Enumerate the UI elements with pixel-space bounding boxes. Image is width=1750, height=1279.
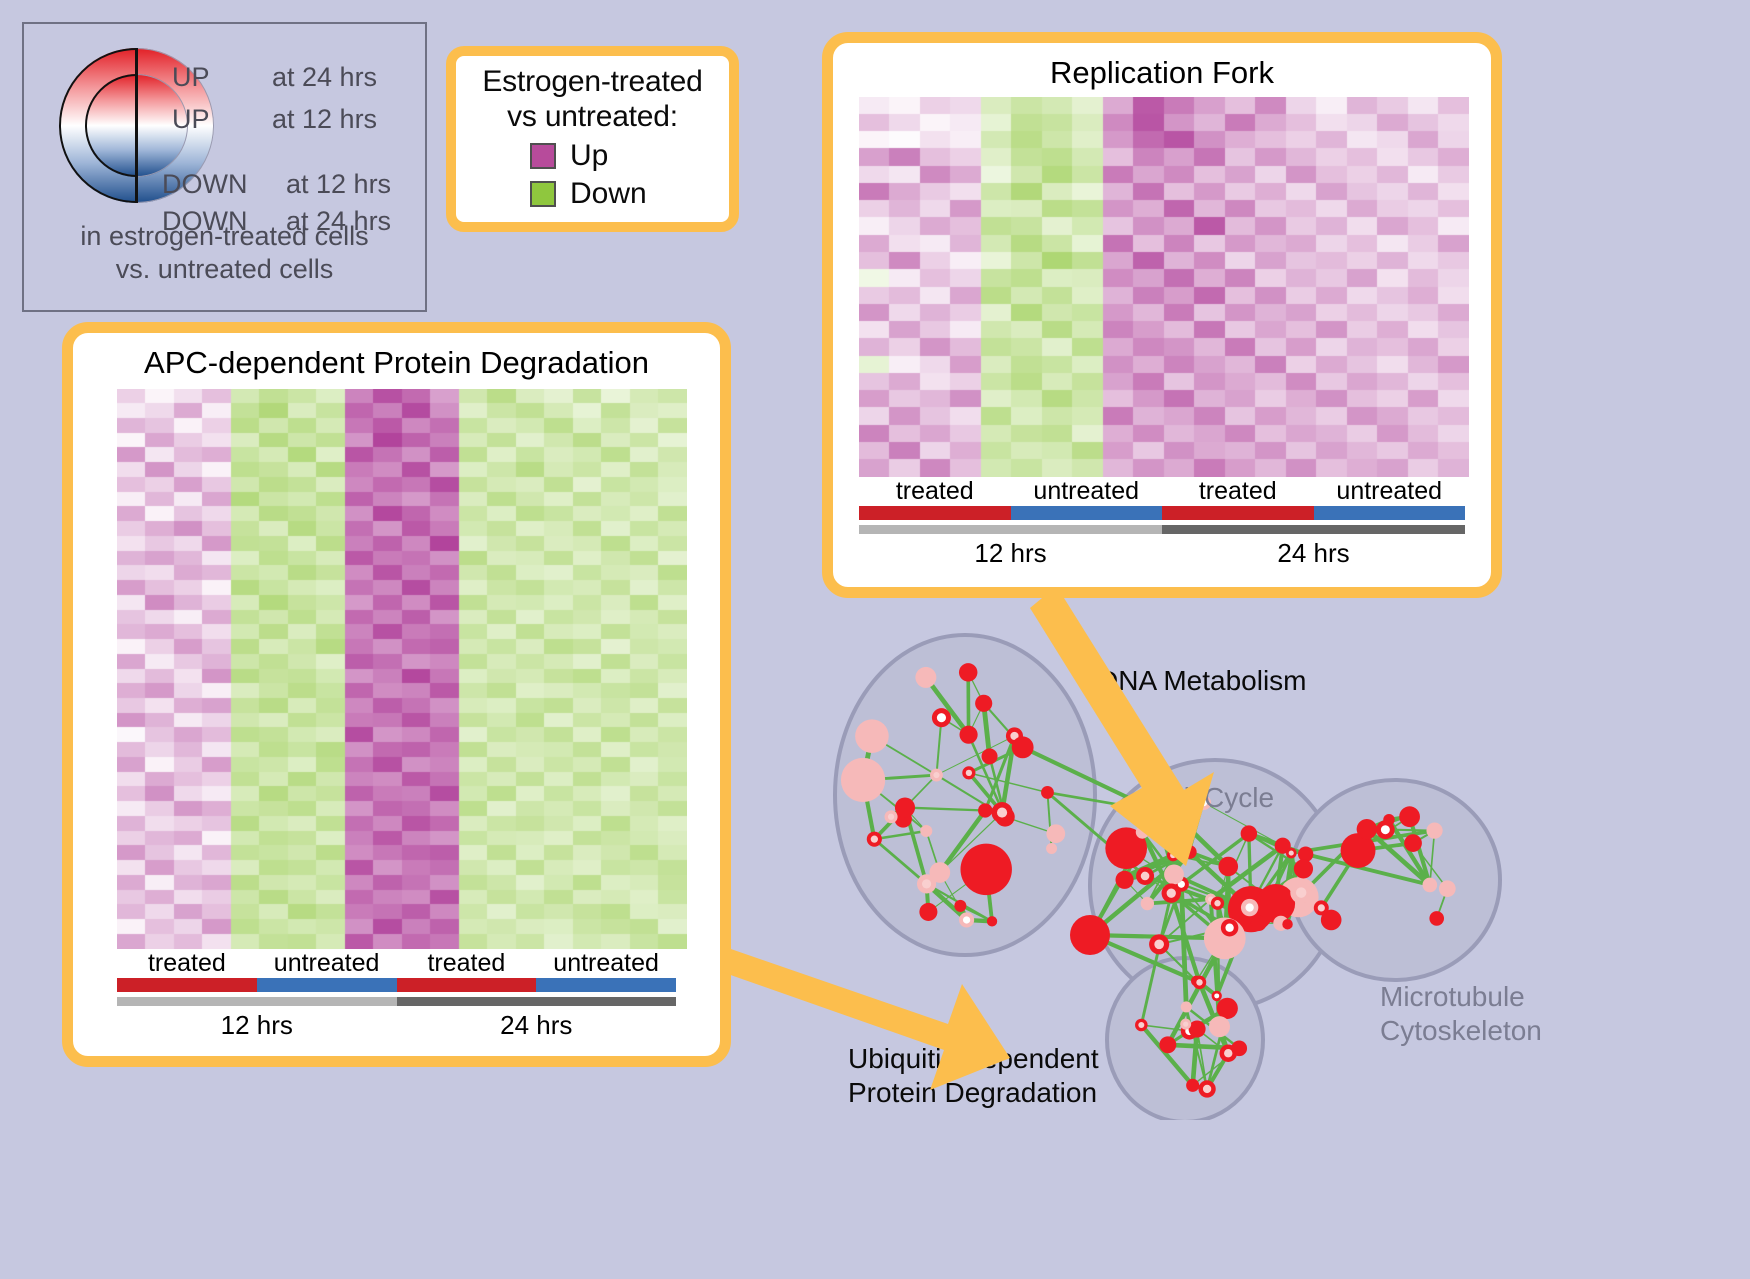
network-node-core [933,772,939,778]
time-label: 12 hrs [117,1010,397,1041]
group-colour-segment [397,978,537,992]
network-node [895,798,915,818]
wheel-when-up-12: at 12 hrs [272,104,377,135]
network-node [841,758,885,802]
time-colour-bar-replication-fork [859,525,1465,534]
network-node [987,916,997,926]
network-node [1241,825,1257,841]
cluster-label-dna-metabolism: DNA Metabolism [1098,665,1307,697]
group-colour-segment [1162,506,1314,520]
panel-apc-degradation: APC-dependent Protein Degradation treate… [62,322,731,1067]
wheel-when-down-12: at 12 hrs [286,169,391,200]
legend-label-up: Up [570,139,608,173]
network-node [1439,880,1456,897]
network-node-core [1225,924,1233,932]
group-colour-segment [859,506,1011,520]
legend-item-up: Up [456,139,729,173]
down-swatch-icon [530,181,556,207]
network-node [1251,915,1267,931]
group-colour-bar-replication-fork [859,506,1465,520]
wheel-divider [135,48,138,203]
network-node [1422,878,1437,893]
group-colour-bar-apc [117,978,676,992]
network-node [1046,843,1057,854]
network-node [915,667,936,688]
cluster-label-ubiquitin-degradation: Ubiquitin-dependent Protein Degradation [848,1042,1099,1109]
time-colour-segment [859,525,1162,534]
network-node [1217,998,1238,1019]
time-colour-segment [117,997,397,1006]
network-node [982,748,998,764]
network-node [1383,814,1394,825]
network-node [959,663,977,681]
wheel-caption: in estrogen-treated cells vs. untreated … [24,220,425,286]
heatmap-apc [117,389,687,949]
network-node [1164,865,1184,885]
group-label: treated [397,949,537,978]
network-node [975,695,992,712]
panel-title-replication-fork: Replication Fork [833,55,1491,91]
network-node [1209,1016,1230,1037]
wheel-key-up-24: UP [172,62,210,93]
group-label: untreated [1011,477,1163,506]
group-colour-segment [257,978,397,992]
time-colour-segment [397,997,677,1006]
network-node [960,726,978,744]
network-node [1070,915,1110,955]
legend-title-line2: vs untreated: [456,100,729,135]
time-label: 24 hrs [397,1010,677,1041]
figure-canvas: UP at 24 hrs UP at 12 hrs DOWN at 12 hrs… [0,0,1750,1279]
legend-label-down: Down [570,177,647,211]
network-node [1136,826,1149,839]
network-node [1429,911,1444,926]
network-node-core [1381,825,1390,834]
network-node [929,862,950,883]
group-colour-segment [1314,506,1466,520]
network-node-core [1203,1085,1211,1093]
group-label: treated [117,949,257,978]
wheel-when-up-24: at 24 hrs [272,62,377,93]
network-node-core [1214,993,1219,998]
network-node-core [1196,979,1202,985]
time-labels-replication-fork: 12 hrs24 hrs [859,538,1465,569]
network-node [855,719,889,753]
time-colour-segment [1162,525,1465,534]
group-label: untreated [536,949,676,978]
up-swatch-icon [530,143,556,169]
network-node-core [1141,872,1150,881]
network-node [1041,786,1054,799]
panel-title-apc: APC-dependent Protein Degradation [73,345,720,381]
network-node [1404,834,1422,852]
network-node [1141,897,1154,910]
group-labels-replication-fork: treateduntreatedtreateduntreated [859,477,1465,506]
wheel-key-down-12: DOWN [162,169,247,200]
network-node-core [1138,1022,1144,1028]
network-node [1159,1036,1176,1053]
legend-title-line1: Estrogen-treated [456,65,729,100]
heatmap-replication-fork [859,97,1469,477]
cluster-label-microtubule-cytoskeleton: Microtubule Cytoskeleton [1380,980,1542,1047]
network-node-core [966,770,972,776]
network-node-core [1296,887,1306,897]
group-label: treated [1162,477,1314,506]
network-node [1189,1021,1206,1038]
network-node-core [1289,851,1294,856]
up-down-legend: Estrogen-treated vs untreated: Up Down [446,46,739,232]
network-node-core [1183,1022,1188,1027]
network-node [1012,736,1034,758]
network-node-core [1170,852,1176,858]
panel-replication-fork: Replication Fork treateduntreatedtreated… [822,32,1502,598]
network-node [1231,1040,1247,1056]
network-node-core [1245,903,1253,911]
network-node [1115,871,1133,889]
network-node-core [963,916,970,923]
wheel-key-up-12: UP [172,104,210,135]
network-node-core [937,713,946,722]
network-node-core [1224,1049,1232,1057]
group-colour-segment [536,978,676,992]
colour-wheel-legend: UP at 24 hrs UP at 12 hrs DOWN at 12 hrs… [22,22,427,312]
network-node [919,903,937,921]
time-labels-apc: 12 hrs24 hrs [117,1010,676,1041]
network-node [1046,824,1065,843]
group-colour-segment [1011,506,1163,520]
network-node-core [1214,900,1220,906]
cluster-microtubule [1290,780,1500,980]
group-colour-segment [117,978,257,992]
group-label: untreated [257,949,397,978]
group-label: treated [859,477,1011,506]
network-node [978,803,992,817]
time-label: 12 hrs [859,538,1162,569]
time-colour-bar-apc [117,997,676,1006]
network-node [954,900,966,912]
wheel-caption-line1: in estrogen-treated cells [24,220,425,253]
network-node [1282,919,1292,929]
network-node-core [922,879,931,888]
wheel-caption-line2: vs. untreated cells [24,253,425,286]
network-node-core [888,814,894,820]
network-node-core [997,808,1007,818]
network-node [1218,857,1238,877]
group-label: untreated [1314,477,1466,506]
network-node [920,825,932,837]
network-node [1357,819,1377,839]
cluster-label-cell-cycle: Cell Cycle [1148,782,1274,814]
network-node [1294,859,1313,878]
network-node [1426,823,1442,839]
up-down-legend-title: Estrogen-treated vs untreated: [456,56,729,135]
network-node [1183,845,1197,859]
network-node-core [1318,904,1325,911]
legend-item-down: Down [456,177,729,211]
group-labels-apc: treateduntreatedtreateduntreated [117,949,676,978]
network-node [1186,1079,1199,1092]
network-node-core [871,836,878,843]
network-node-core [1154,939,1164,949]
time-label: 24 hrs [1162,538,1465,569]
network-node [1181,1001,1192,1012]
network-node [1399,806,1420,827]
network-node [960,844,1011,895]
network-node-core [1167,889,1176,898]
